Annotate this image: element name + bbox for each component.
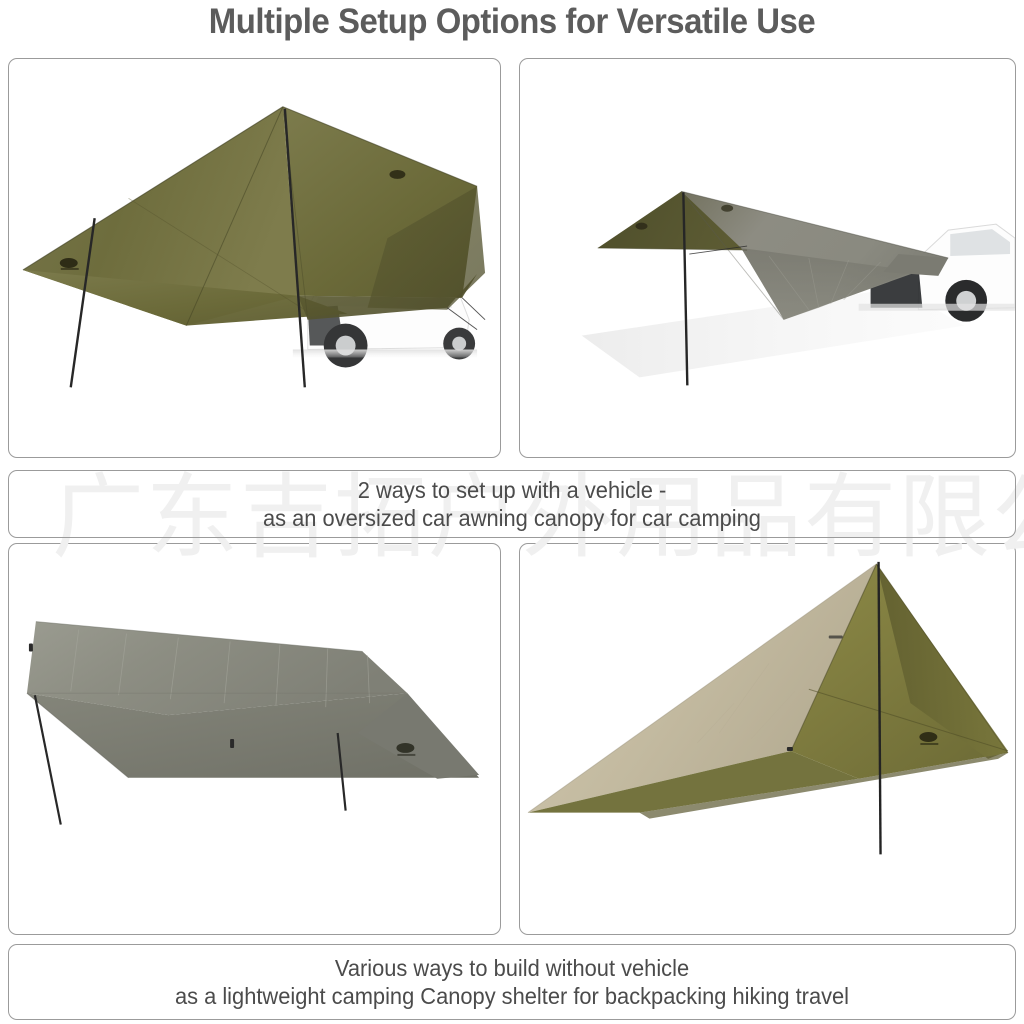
band-bottom-line2: as a lightweight camping Canopy shelter … (175, 982, 849, 1010)
page-title: Multiple Setup Options for Versatile Use (31, 2, 994, 42)
panel-single-pole-with-vehicle: Single pole with Vehicle (519, 58, 1016, 458)
brand-logo-icon-2 (389, 170, 405, 179)
tarp-scene-dual-poles-vehicle (9, 59, 500, 457)
panel-dual-poles-with-vehicle: Dual poles with Vehicle (8, 58, 501, 458)
description-band-bottom: Various ways to build without vehicle as… (8, 944, 1016, 1020)
band-middle-line2: as an oversized car awning canopy for ca… (263, 504, 761, 532)
tarp-canopy (528, 564, 1008, 819)
tarp-scene-single-pole (520, 544, 1015, 934)
band-bottom-line1: Various ways to build without vehicle (335, 954, 689, 982)
brand-logo-icon (636, 223, 648, 230)
description-band-middle: 2 ways to set up with a vehicle - as an … (8, 470, 1016, 538)
panel-single-pole-without-vehicle: Single Pole without vehicle (519, 543, 1016, 935)
tarp-scene-single-pole-vehicle (520, 59, 1015, 457)
infographic-page: Multiple Setup Options for Versatile Use… (0, 0, 1024, 1024)
brand-logo-icon-2 (721, 205, 733, 212)
tarp-canopy (23, 107, 485, 326)
tarp-canopy (27, 622, 479, 779)
panel-camping-canopy-shelter: As a Camping Canopy Shelter with dual po… (8, 543, 501, 935)
band-middle-line1: 2 ways to set up with a vehicle - (358, 476, 666, 504)
tarp-scene-canopy-shelter (9, 544, 500, 934)
